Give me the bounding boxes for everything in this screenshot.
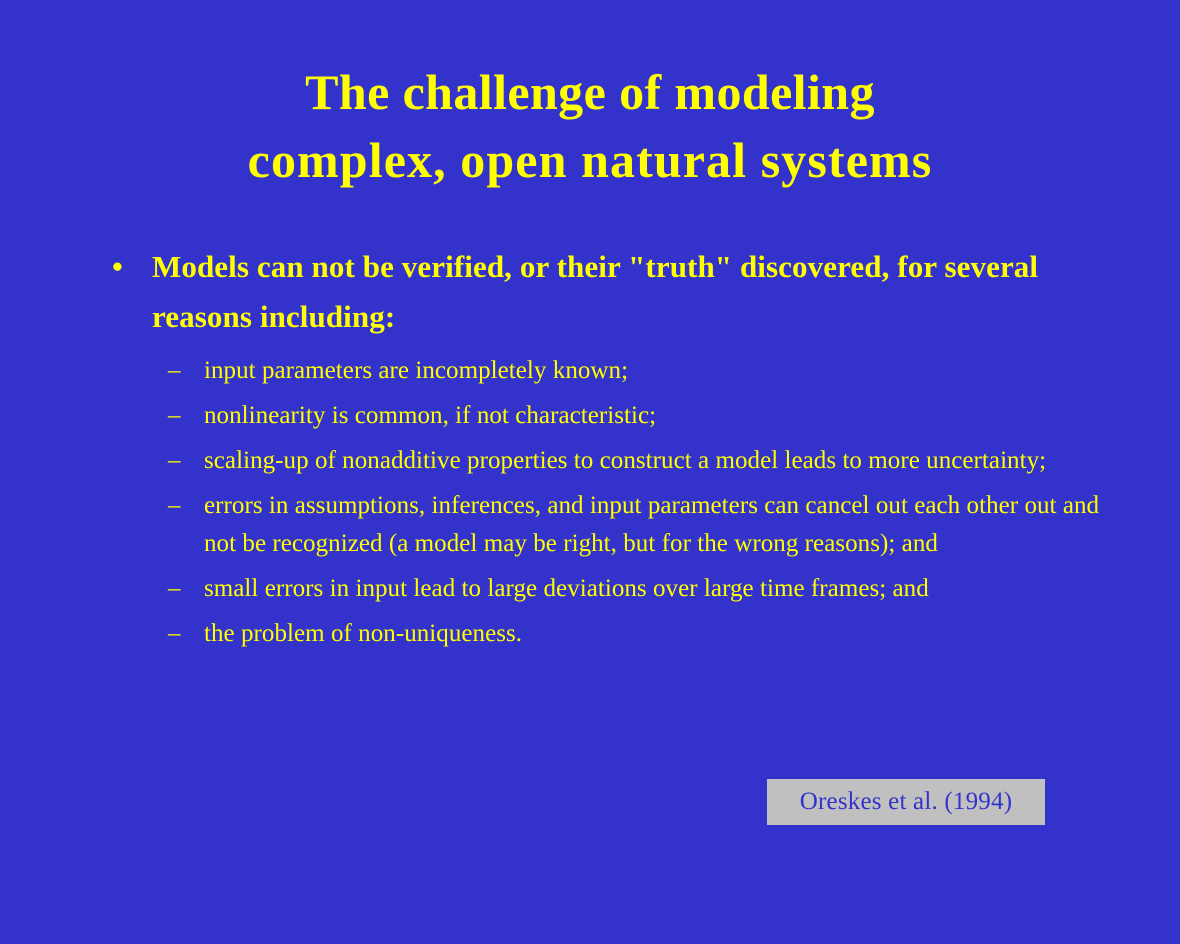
dash-marker-icon: – <box>168 487 181 525</box>
sub-bullet-list: – input parameters are incompletely know… <box>0 352 1180 653</box>
sub-bullet-item-2-text: nonlinearity is common, if not character… <box>204 402 656 429</box>
sub-bullet-item-4: – errors in assumptions, inferences, and… <box>0 487 1180 563</box>
sub-bullet-item-6-text: the problem of non-uniqueness. <box>204 620 522 647</box>
sub-bullet-item-4-text: errors in assumptions, inferences, and i… <box>204 492 1099 557</box>
dash-marker-icon: – <box>168 615 181 653</box>
bullet-item-primary-text: Models can not be verified, or their "tr… <box>152 249 1038 334</box>
sub-bullet-item-2: – nonlinearity is common, if not charact… <box>0 397 1180 435</box>
sub-bullet-item-6: – the problem of non-uniqueness. <box>0 615 1180 653</box>
citation-box: Oreskes et al. (1994) <box>767 779 1045 825</box>
sub-bullet-item-3: – scaling-up of nonadditive properties t… <box>0 442 1180 480</box>
dash-marker-icon: – <box>168 442 181 480</box>
sub-bullet-item-5: – small errors in input lead to large de… <box>0 570 1180 608</box>
slide-title: The challenge of modeling complex, open … <box>0 58 1180 194</box>
dash-marker-icon: – <box>168 570 181 608</box>
sub-bullet-item-5-text: small errors in input lead to large devi… <box>204 575 929 602</box>
presentation-slide: The challenge of modeling complex, open … <box>0 0 1180 944</box>
sub-bullet-item-1-text: input parameters are incompletely known; <box>204 357 628 384</box>
dash-marker-icon: – <box>168 352 181 390</box>
citation-text: Oreskes et al. (1994) <box>800 788 1012 816</box>
slide-body: • Models can not be verified, or their "… <box>0 242 1180 660</box>
sub-bullet-item-3-text: scaling-up of nonadditive properties to … <box>204 447 1046 474</box>
bullet-item-primary: • Models can not be verified, or their "… <box>0 242 1180 342</box>
dash-marker-icon: – <box>168 397 181 435</box>
slide-title-line-1: The challenge of modeling <box>0 58 1180 126</box>
sub-bullet-item-1: – input parameters are incompletely know… <box>0 352 1180 390</box>
bullet-marker-icon: • <box>112 242 123 292</box>
slide-title-line-2: complex, open natural systems <box>0 126 1180 194</box>
